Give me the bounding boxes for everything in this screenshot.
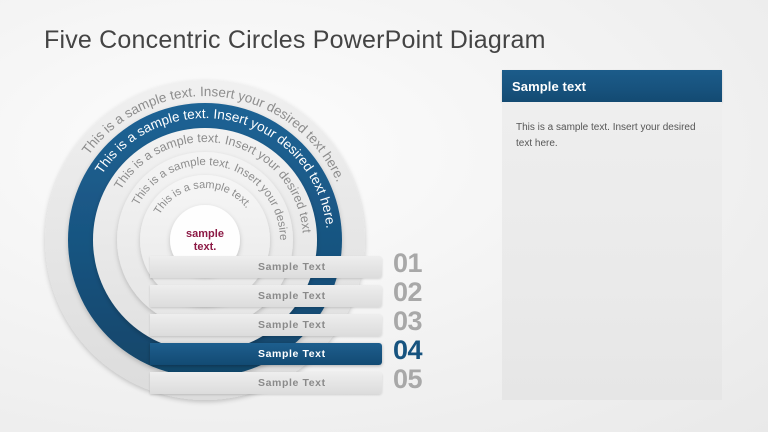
center-label-line2: text. xyxy=(194,241,217,253)
legend-label: Sample Text xyxy=(258,261,326,273)
legend-label: Sample Text xyxy=(258,348,326,360)
center-label-line1: sample xyxy=(186,228,224,240)
panel-header-title: Sample text xyxy=(512,79,586,94)
legend-number: 03 xyxy=(393,308,422,335)
legend-row-03[interactable]: Sample Text 03 xyxy=(150,314,382,336)
legend-label: Sample Text xyxy=(258,290,326,302)
legend-number: 04 xyxy=(393,337,422,364)
page-title: Five Concentric Circles PowerPoint Diagr… xyxy=(44,26,546,55)
legend-list: Sample Text 01 Sample Text 02 Sample Tex… xyxy=(150,256,450,396)
panel-body-text: This is a sample text. Insert your desir… xyxy=(516,120,708,151)
legend-number: 05 xyxy=(393,366,422,393)
legend-row-02[interactable]: Sample Text 02 xyxy=(150,285,382,307)
panel-body[interactable]: This is a sample text. Insert your desir… xyxy=(502,102,722,400)
legend-label: Sample Text xyxy=(258,319,326,331)
legend-row-04[interactable]: Sample Text 04 xyxy=(150,343,382,365)
slide-canvas: Five Concentric Circles PowerPoint Diagr… xyxy=(0,0,768,432)
panel-header: Sample text xyxy=(502,70,722,102)
sample-text-panel: Sample text This is a sample text. Inser… xyxy=(502,70,722,400)
legend-row-05[interactable]: Sample Text 05 xyxy=(150,372,382,394)
legend-row-01[interactable]: Sample Text 01 xyxy=(150,256,382,278)
legend-label: Sample Text xyxy=(258,377,326,389)
legend-number: 02 xyxy=(393,279,422,306)
legend-number: 01 xyxy=(393,250,422,277)
